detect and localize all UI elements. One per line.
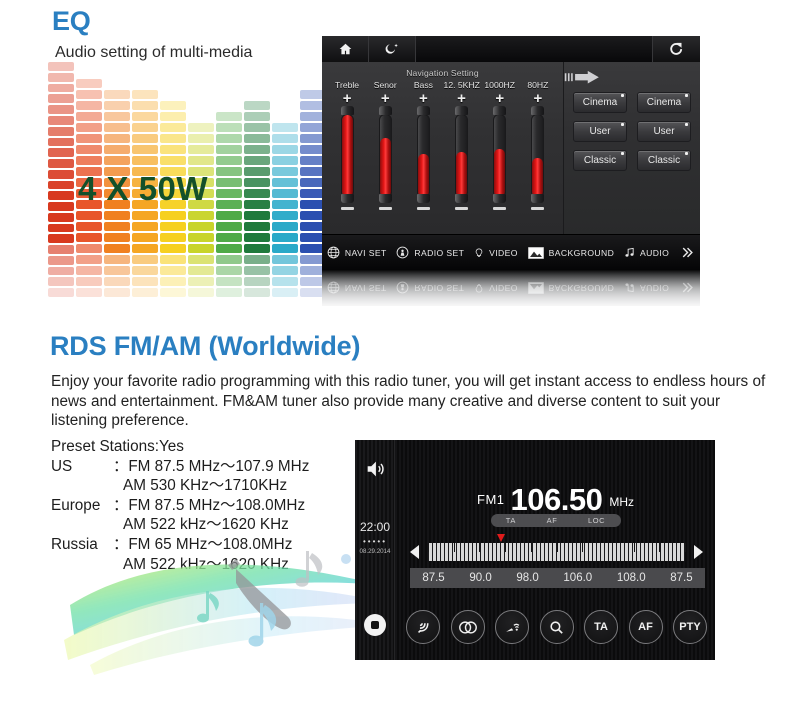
rds-am-range: AM 530 KHz～1710KHz <box>123 477 287 494</box>
chart-bar-segment <box>272 167 298 176</box>
eq-bottom-toolbar: NAVI SETRADIO SETVIDEOBACKGROUNDAUDIO <box>322 234 700 270</box>
search-icon <box>548 619 565 636</box>
slider-cap-top <box>493 106 506 115</box>
radio-button-stereo[interactable] <box>451 610 485 644</box>
chart-bar-segment <box>104 145 130 154</box>
band-waves-icon <box>415 619 432 636</box>
scale-major-tick <box>505 543 506 552</box>
rds-section-title: RDS FM/AM (Worldwide) <box>50 331 360 362</box>
radio-button-search[interactable] <box>540 610 574 644</box>
radio-button-scan-antenna[interactable] <box>495 610 529 644</box>
eq-slider-track[interactable] <box>341 114 354 198</box>
chart-bar-segment <box>216 156 242 165</box>
chart-bar-segment <box>104 156 130 165</box>
chart-bar-segment <box>48 277 74 286</box>
chart-bar-segment <box>216 134 242 143</box>
chart-bar-segment <box>272 156 298 165</box>
chart-bar-segment <box>104 288 130 297</box>
chart-bar-segment <box>160 288 186 297</box>
chart-bar-segment <box>104 101 130 110</box>
chart-bar-segment <box>272 277 298 286</box>
chart-bar-segment <box>216 167 242 176</box>
scale-major-tick <box>582 543 583 552</box>
chart-bar-segment <box>132 211 158 220</box>
chart-bar-segment <box>132 233 158 242</box>
chart-bar-segment <box>160 101 186 110</box>
radio-button-af[interactable]: AF <box>629 610 663 644</box>
eq-slider-fill <box>342 115 353 197</box>
eq-increase-button[interactable]: + <box>405 92 441 106</box>
scale-major-tick <box>479 543 480 552</box>
rds-fm-range: FM 87.5 MHz～108.0MHz <box>128 497 305 514</box>
chart-bar-segment <box>160 112 186 121</box>
eq-toolbar-label: BACKGROUND <box>549 248 615 258</box>
rds-description: Enjoy your favorite radio programming wi… <box>51 372 773 431</box>
chart-bar-segment <box>48 148 74 157</box>
eq-slider-track[interactable] <box>531 114 544 198</box>
chart-bar-segment <box>76 101 102 110</box>
scale-major-tick <box>531 543 532 552</box>
chart-bar-segment <box>48 105 74 114</box>
eq-toolbar-item[interactable]: VIDEO <box>474 246 518 260</box>
chart-bar-segment <box>132 288 158 297</box>
eq-decrease-button[interactable] <box>455 207 468 210</box>
radio-button-label: PTY <box>679 621 700 633</box>
chart-bar-segment <box>160 277 186 286</box>
rds-separator: ： <box>113 458 128 475</box>
chart-bar-segment <box>132 90 158 99</box>
eq-decrease-button[interactable] <box>379 207 392 210</box>
preset-station[interactable]: 108.0 <box>617 572 646 584</box>
slider-cap-bottom <box>379 194 392 203</box>
rds-spec-fm-row: US：FM 87.5 MHz～107.9 MHz <box>51 457 309 477</box>
chart-bar-segment <box>188 255 214 264</box>
radio-main-area: FM1106.50MHz TAAFLOC 87.590.098.0106.010… <box>396 440 715 660</box>
eq-slider-label: 1000HZ <box>482 80 518 90</box>
chart-bar-segment <box>132 112 158 121</box>
toolbar-spacer <box>416 36 653 62</box>
chart-bar-segment <box>160 244 186 253</box>
chart-bar-segment <box>132 266 158 275</box>
chart-bar-segment <box>48 224 74 233</box>
eq-increase-button[interactable]: + <box>520 92 556 106</box>
eq-decrease-button[interactable] <box>341 207 354 210</box>
eq-slider[interactable]: Bass+ <box>405 80 441 210</box>
frequency-display: FM1106.50MHz <box>396 482 715 518</box>
eq-decrease-button[interactable] <box>531 207 544 210</box>
chart-bar-segment <box>272 200 298 209</box>
eq-toolbar-item[interactable]: BACKGROUND <box>528 247 615 259</box>
chart-bar-segment <box>188 244 214 253</box>
chart-bar-segment <box>76 211 102 220</box>
rds-spec-fm-row: Europe：FM 87.5 MHz～108.0MHz <box>51 496 309 516</box>
chart-bar-segment <box>244 255 270 264</box>
chart-bar-segment <box>272 134 298 143</box>
chart-bar-segment <box>160 222 186 231</box>
eq-section-title: EQ <box>52 6 91 37</box>
chart-bar-segment <box>272 266 298 275</box>
chart-bar-segment <box>132 123 158 132</box>
product-spec-page: EQ Audio setting of multi-media 4 X 50W <box>0 0 800 704</box>
radio-button-label: TA <box>594 621 608 633</box>
frequency-unit: MHz <box>609 495 634 509</box>
tuning-row <box>396 539 715 565</box>
radio-button-band-waves[interactable] <box>406 610 440 644</box>
chart-bar-segment <box>76 233 102 242</box>
chart-bar-segment <box>48 256 74 265</box>
chart-bar <box>272 62 298 297</box>
chart-bar-segment <box>132 277 158 286</box>
chart-bar-segment <box>160 134 186 143</box>
chart-bar-segment <box>48 170 74 179</box>
clock-time: 22:00 <box>355 520 395 534</box>
slider-cap-bottom <box>531 194 544 203</box>
chart-bar-segment <box>48 138 74 147</box>
eq-toolbar-label: RADIO SET <box>414 248 464 258</box>
rds-region-label: US <box>51 457 113 477</box>
chart-bar-segment <box>272 189 298 198</box>
preset-station[interactable]: 106.0 <box>563 572 592 584</box>
rds-separator: ： <box>113 497 128 514</box>
triangle-right-icon[interactable] <box>694 545 703 559</box>
eq-slider[interactable]: Treble+ <box>329 80 365 210</box>
eq-section-subtitle: Audio setting of multi-media <box>55 44 252 62</box>
picture-icon <box>528 247 544 259</box>
eq-slider-fill <box>532 158 543 197</box>
preset-station[interactable]: 87.5 <box>670 572 692 584</box>
chart-bar-segment <box>188 277 214 286</box>
chart-bar-segment <box>104 134 130 143</box>
chart-bar-segment <box>104 211 130 220</box>
chart-bar-segment <box>272 233 298 242</box>
eq-toolbar-label: AUDIO <box>640 248 669 258</box>
chart-bar-segment <box>48 73 74 82</box>
eq-body: Navigation Setting Treble+Senor+Bass+12.… <box>322 62 700 234</box>
chart-bar-segment <box>244 200 270 209</box>
stop-icon <box>371 621 379 629</box>
preset-station[interactable]: 90.0 <box>469 572 491 584</box>
eq-increase-button[interactable]: + <box>367 92 403 106</box>
eq-slider-track[interactable] <box>493 114 506 198</box>
rds-indicator: TA <box>506 516 516 525</box>
eq-slider[interactable]: 80HZ+ <box>520 80 556 210</box>
chart-bar-segment <box>188 123 214 132</box>
rds-spec-am-row: AM 522 kHz～1620 KHz <box>51 515 309 535</box>
eq-slider-label: 12. 5KHZ <box>444 80 480 90</box>
eq-preset-button[interactable]: User <box>573 121 627 142</box>
chart-bar-segment <box>272 211 298 220</box>
eq-slider-label: Bass <box>405 80 441 90</box>
chart-bar-segment <box>244 112 270 121</box>
eq-toolbar-label: VIDEO <box>489 248 518 258</box>
rds-indicator: LOC <box>588 516 605 525</box>
preset-stations-line: Preset Stations:Yes <box>51 437 309 457</box>
eq-decrease-button[interactable] <box>493 207 506 210</box>
chart-bar-segment <box>48 62 74 71</box>
chart-bar-segment <box>244 178 270 187</box>
chart-bar-segment <box>216 222 242 231</box>
night-mode-button[interactable] <box>369 36 416 62</box>
eq-slider[interactable]: 1000HZ+ <box>482 80 518 210</box>
moon-icon <box>385 42 399 56</box>
slider-cap-bottom <box>341 194 354 203</box>
eq-preset-button[interactable]: Classic <box>637 150 691 171</box>
preset-station[interactable]: 98.0 <box>516 572 538 584</box>
chart-bar-segment <box>216 200 242 209</box>
rds-fm-range: FM 87.5 MHz～107.9 MHz <box>128 458 309 475</box>
chart-bar-segment <box>216 112 242 121</box>
rds-indicator-group: TAAFLOC <box>491 514 621 527</box>
chart-bar-segment <box>160 156 186 165</box>
chart-bar-segment <box>48 213 74 222</box>
chart-bar-segment <box>188 211 214 220</box>
music-notes-decoration <box>60 545 390 695</box>
eq-toolbar-item[interactable]: AUDIO <box>624 246 669 259</box>
panel-title: Navigation Setting <box>322 62 563 78</box>
bulb-icon <box>474 246 484 260</box>
more-button[interactable] <box>679 246 695 259</box>
slider-cap-top <box>455 106 468 115</box>
chart-bar-segment <box>132 255 158 264</box>
chart-bar-segment <box>132 145 158 154</box>
eq-slider-track[interactable] <box>417 114 430 198</box>
eq-preset-button[interactable]: User <box>637 121 691 142</box>
triangle-left-icon[interactable] <box>410 545 419 559</box>
rds-region-label: Europe <box>51 496 113 516</box>
chart-bar-segment <box>48 84 74 93</box>
chart-bar-segment <box>104 123 130 132</box>
slider-cap-bottom <box>455 194 468 203</box>
chart-bar-segment <box>48 288 74 297</box>
chart-bar-segment <box>104 222 130 231</box>
chart-bar-segment <box>132 101 158 110</box>
eq-toolbar-item[interactable]: NAVI SET <box>327 246 387 259</box>
music-note-icon <box>624 246 635 259</box>
chart-bar-segment <box>48 202 74 211</box>
home-button[interactable] <box>322 36 369 62</box>
chart-bar-segment <box>48 267 74 276</box>
chart-bar-segment <box>244 123 270 132</box>
chart-bar-segment <box>244 233 270 242</box>
slider-cap-top <box>341 106 354 115</box>
chart-bar-segment <box>244 266 270 275</box>
chart-bar-segment <box>76 79 102 88</box>
chart-bar-segment <box>48 116 74 125</box>
eq-slider-fill <box>380 138 391 197</box>
band-label: FM1 <box>477 492 505 507</box>
chart-bar-segment <box>244 134 270 143</box>
rds-spec-am-row: AM 530 KHz～1710KHz <box>51 476 309 496</box>
chart-bar-segment <box>216 123 242 132</box>
chart-bar-segment <box>76 134 102 143</box>
scale-major-tick <box>557 543 558 552</box>
scan-antenna-icon <box>504 619 521 636</box>
eq-slider-label: 80HZ <box>520 80 556 90</box>
chart-bar-segment <box>160 233 186 242</box>
frequency-value: 106.50 <box>511 482 603 517</box>
chart-bar-segment <box>244 189 270 198</box>
chart-bar-segment <box>104 112 130 121</box>
eq-slider-fill <box>494 149 505 197</box>
slider-cap-top <box>379 106 392 115</box>
radio-button-ta[interactable]: TA <box>584 610 618 644</box>
chart-bar-segment <box>76 156 102 165</box>
chart-bar-segment <box>272 244 298 253</box>
return-button[interactable] <box>653 36 700 62</box>
eq-toolbar-label: NAVI SET <box>345 248 387 258</box>
chart-bar-segment <box>104 244 130 253</box>
chart-bar-segment <box>244 156 270 165</box>
chart-bar-segment <box>48 245 74 254</box>
slider-cap-top <box>531 106 544 115</box>
chart-bar-segment <box>244 244 270 253</box>
tuning-scale[interactable] <box>428 543 685 561</box>
stereo-icon <box>458 620 478 635</box>
globe-icon <box>327 246 340 259</box>
chart-bar-segment <box>132 222 158 231</box>
scale-major-tick <box>634 543 635 552</box>
chart-bar-segment <box>244 211 270 220</box>
chart-bar-segment <box>216 233 242 242</box>
chart-bar-segment <box>216 255 242 264</box>
chart-bar-segment <box>216 244 242 253</box>
chart-bar-segment <box>132 156 158 165</box>
chart-bar-segment <box>160 266 186 275</box>
eq-slider-track[interactable] <box>379 114 392 198</box>
tuning-marker <box>497 534 505 542</box>
chart-bar-segment <box>272 255 298 264</box>
chart-bar-segment <box>216 266 242 275</box>
chart-bar-segment <box>216 211 242 220</box>
chart-bar-segment <box>48 127 74 136</box>
chart-bar-segment <box>188 145 214 154</box>
eq-preset-panel: CinemaCinemaUserUserClassicClassic <box>564 62 700 234</box>
chart-bar-segment <box>272 178 298 187</box>
eq-preset-button[interactable]: Cinema <box>573 92 627 113</box>
chart-bar-segment <box>76 222 102 231</box>
radio-icon <box>396 246 409 259</box>
radio-button-pty[interactable]: PTY <box>673 610 707 644</box>
chart-bar-segment <box>272 123 298 132</box>
chart-bar-segment <box>76 255 102 264</box>
chart-bar-segment <box>244 288 270 297</box>
scale-major-tick <box>659 543 660 552</box>
chart-bar-segment <box>216 189 242 198</box>
rds-am-range: AM 522 kHz～1620 KHz <box>123 516 289 533</box>
eq-slider-track[interactable] <box>455 114 468 198</box>
chart-bar-segment <box>132 134 158 143</box>
eq-preset-buttons: CinemaCinemaUserUserClassicClassic <box>564 92 700 171</box>
chart-bar-segment <box>216 288 242 297</box>
rds-indicator: AF <box>547 516 558 525</box>
eq-slider-panel: Navigation Setting Treble+Senor+Bass+12.… <box>322 62 564 234</box>
chart-bar-segment <box>188 288 214 297</box>
eq-increase-button[interactable]: + <box>444 92 480 106</box>
slider-cap-bottom <box>417 194 430 203</box>
chart-bar <box>216 62 242 297</box>
radio-device-screen: 22:00 ••••• 08.29.2014 FM1106.50MHz TAAF… <box>355 440 715 660</box>
chart-bar-segment <box>244 222 270 231</box>
eq-preset-button[interactable]: Classic <box>573 150 627 171</box>
home-icon <box>338 42 353 56</box>
eq-increase-button[interactable]: + <box>482 92 518 106</box>
chart-bar-segment <box>132 244 158 253</box>
chart-bar-segment <box>104 90 130 99</box>
scale-major-tick <box>454 543 455 552</box>
return-arrow-icon <box>668 41 685 56</box>
eq-top-toolbar <box>322 36 700 62</box>
radio-button-row: TAAFPTY <box>406 610 707 644</box>
chart-bar-segment <box>76 288 102 297</box>
chart-bar-segment <box>104 266 130 275</box>
chart-bar-segment <box>272 222 298 231</box>
chart-bar-segment <box>244 145 270 154</box>
eq-increase-button[interactable]: + <box>329 92 365 106</box>
scale-major-tick <box>685 543 686 552</box>
chart-bar-segment <box>76 244 102 253</box>
chart-bar-segment <box>76 123 102 132</box>
chart-bar-segment <box>216 277 242 286</box>
slider-cap-top <box>417 106 430 115</box>
chart-bar-segment <box>272 288 298 297</box>
next-page-arrow[interactable] <box>564 70 700 92</box>
chart-bar-segment <box>244 167 270 176</box>
chart-bar-segment <box>188 156 214 165</box>
chart-bar-segment <box>48 94 74 103</box>
chart-bar-segment <box>272 145 298 154</box>
scale-major-tick <box>608 543 609 552</box>
eq-toolbar-item[interactable]: RADIO SET <box>396 246 464 259</box>
chart-bar-segment <box>76 266 102 275</box>
chart-bar-segment <box>188 266 214 275</box>
eq-slider[interactable]: 12. 5KHZ+ <box>444 80 480 210</box>
speaker-icon[interactable] <box>363 458 387 480</box>
eq-slider-fill <box>456 152 467 197</box>
chart-bar-segment <box>76 277 102 286</box>
chart-bar-segment <box>188 134 214 143</box>
chart-bar-segment <box>104 233 130 242</box>
eq-decrease-button[interactable] <box>417 207 430 210</box>
eq-slider-label: Senor <box>367 80 403 90</box>
clock-date: 08.29.2014 <box>355 548 395 555</box>
eq-reflection-fade <box>322 270 700 310</box>
signal-dots: ••••• <box>355 537 395 546</box>
eq-preset-button[interactable]: Cinema <box>637 92 691 113</box>
chart-bar-segment <box>160 255 186 264</box>
chevron-double-right-icon <box>679 246 695 259</box>
chart-bar-segment <box>160 211 186 220</box>
chart-bar <box>244 62 270 297</box>
eq-slider[interactable]: Senor+ <box>367 80 403 210</box>
chart-bar-segment <box>244 277 270 286</box>
chart-bar-segment <box>160 123 186 132</box>
arrow-right-icon <box>564 70 700 86</box>
stop-button[interactable] <box>364 614 386 636</box>
chart-bar-segment <box>104 277 130 286</box>
chart-bar-segment <box>104 255 130 264</box>
slider-cap-bottom <box>493 194 506 203</box>
chart-bar <box>48 62 74 297</box>
radio-sidebar: 22:00 ••••• 08.29.2014 <box>355 440 395 660</box>
preset-station-bar: 87.590.098.0106.0108.087.5 <box>410 568 705 588</box>
eq-slider-fill <box>418 154 429 197</box>
chart-bar-segment <box>48 181 74 190</box>
chart-bar-segment <box>48 234 74 243</box>
chart-bar-segment <box>188 233 214 242</box>
chart-bar-segment <box>48 191 74 200</box>
preset-station[interactable]: 87.5 <box>422 572 444 584</box>
chart-bar-segment <box>76 112 102 121</box>
